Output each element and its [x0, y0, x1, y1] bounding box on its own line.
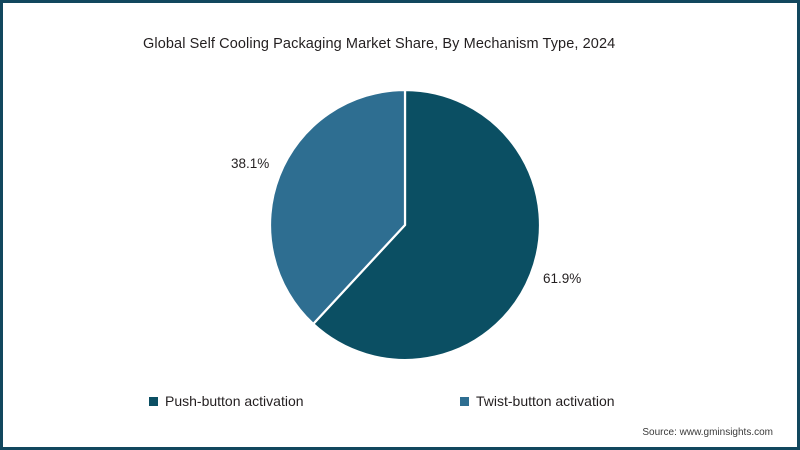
pie-label-twist-button-activation: 38.1%	[231, 156, 269, 171]
source-attribution: Source: www.gminsights.com	[642, 427, 773, 438]
legend-swatch-icon-twist-button-activation	[460, 397, 469, 406]
pie-svg	[268, 88, 542, 362]
legend-swatch-icon-push-button-activation	[149, 397, 158, 406]
pie-chart: 38.1% 61.9%	[3, 3, 800, 450]
legend-item-twist-button-activation[interactable]: Twist-button activation	[460, 391, 615, 411]
chart-card: Global Self Cooling Packaging Market Sha…	[0, 0, 800, 450]
legend-item-label: Push-button activation	[165, 393, 304, 409]
chart-legend: Push-button activation Twist-button acti…	[149, 391, 669, 411]
pie-label-push-button-activation: 61.9%	[543, 271, 581, 286]
legend-item-push-button-activation[interactable]: Push-button activation	[149, 391, 304, 411]
legend-item-label: Twist-button activation	[476, 393, 615, 409]
